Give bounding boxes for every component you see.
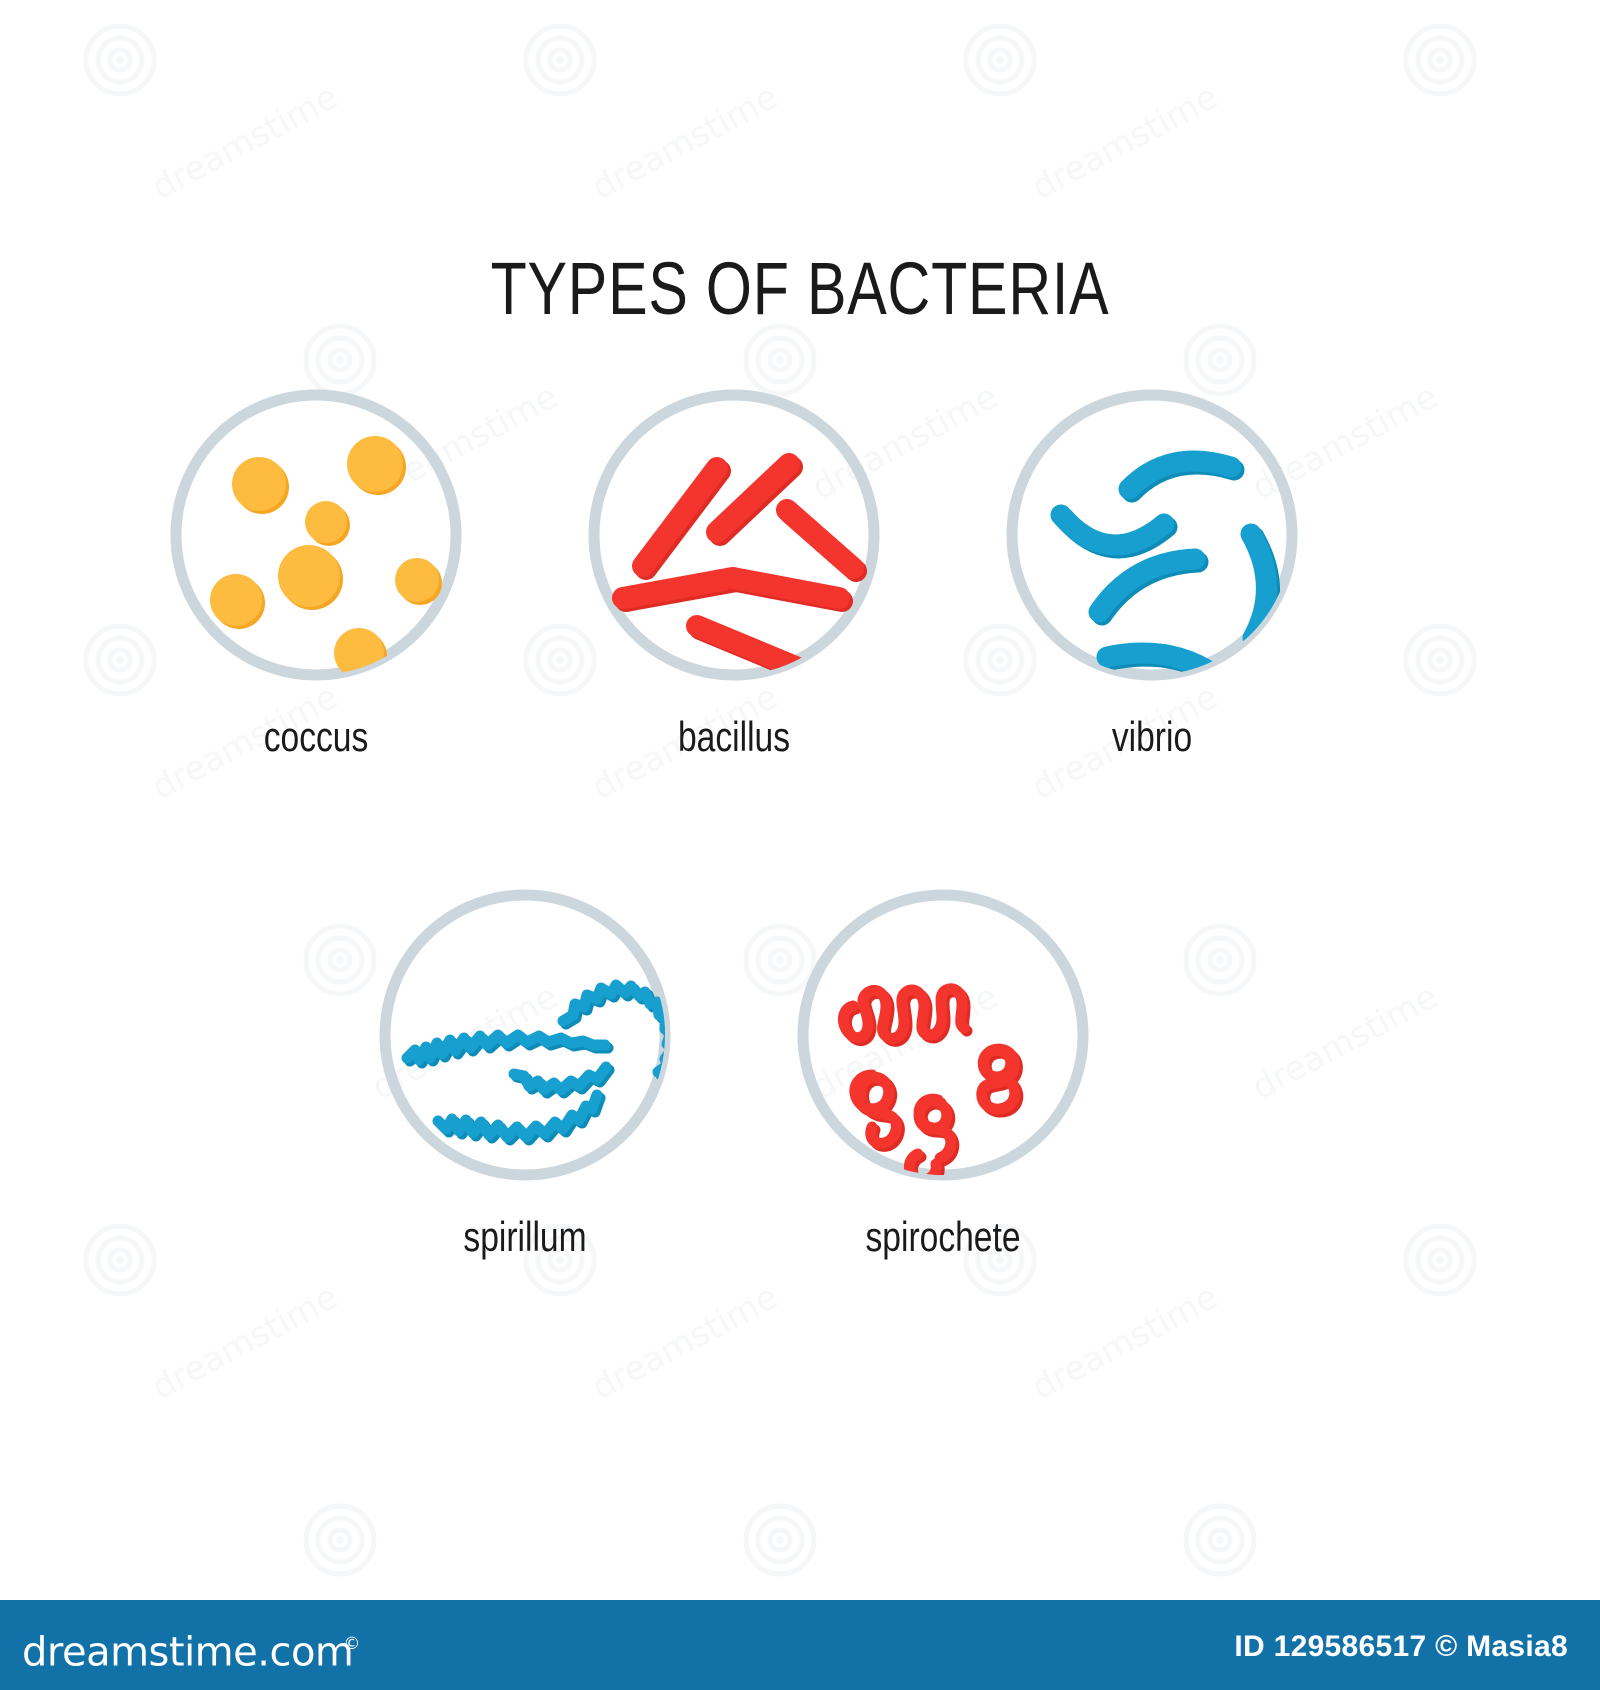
spirillum-cell	[407, 1035, 608, 1063]
dish-bacillus	[584, 385, 884, 685]
coccus-cell	[232, 457, 289, 514]
panel-vibrio: vibrio	[1002, 385, 1302, 761]
panel-spirochete: spirochete	[793, 885, 1093, 1261]
bacillus-cell	[643, 468, 720, 569]
dreamstime-footer-bar: dreamstime.com© ID 129586517 © Masia8	[0, 1600, 1600, 1690]
dish-vibrio	[1002, 385, 1302, 685]
vibrio-cell	[1099, 559, 1198, 615]
poster-canvas: dreamstime	[0, 0, 1600, 1690]
spirillum-cell	[438, 1095, 600, 1140]
panel-label-spirillum: spirillum	[405, 1213, 645, 1261]
dreamstime-logo[interactable]: dreamstime.com©	[22, 1624, 370, 1674]
panel-label-spirochete: spirochete	[823, 1213, 1063, 1261]
vibrio-cell	[1061, 515, 1167, 548]
dish-spirillum	[375, 885, 675, 1185]
vibrio-cell	[1129, 461, 1234, 492]
dish-spirochete	[793, 885, 1093, 1185]
coccus-cell	[305, 501, 350, 546]
coccus-cell	[278, 545, 343, 610]
dish-coccus	[166, 385, 466, 685]
dreamstime-logo-registered-icon: ©	[343, 1634, 360, 1654]
panel-bacillus: bacillus	[584, 385, 884, 761]
bacillus-cell	[733, 578, 842, 601]
spirillum-cell	[514, 1067, 609, 1093]
spirochete-cell	[982, 1049, 1018, 1112]
panel-coccus: coccus	[166, 385, 466, 761]
spirochete-cell	[843, 989, 967, 1042]
dreamstime-logo-text: dreamstime.com	[22, 1629, 353, 1675]
coccus-cell	[210, 574, 265, 629]
panel-spirillum: spirillum	[375, 885, 675, 1261]
watermark-layer: dreamstime	[0, 0, 1600, 1600]
panel-label-bacillus: bacillus	[614, 713, 854, 761]
image-credit: ID 129586517 © Masia8	[1234, 1630, 1568, 1664]
page-title: TYPES OF BACTERIA	[160, 246, 1440, 332]
panel-label-vibrio: vibrio	[1032, 713, 1272, 761]
bacillus-cell	[787, 510, 856, 571]
spirochete-cell	[919, 1099, 954, 1161]
coccus-cell	[395, 558, 442, 605]
coccus-cell	[347, 436, 406, 495]
panel-label-coccus: coccus	[196, 713, 436, 761]
bacillus-cell	[623, 578, 736, 601]
spirochete-cell	[855, 1075, 900, 1146]
